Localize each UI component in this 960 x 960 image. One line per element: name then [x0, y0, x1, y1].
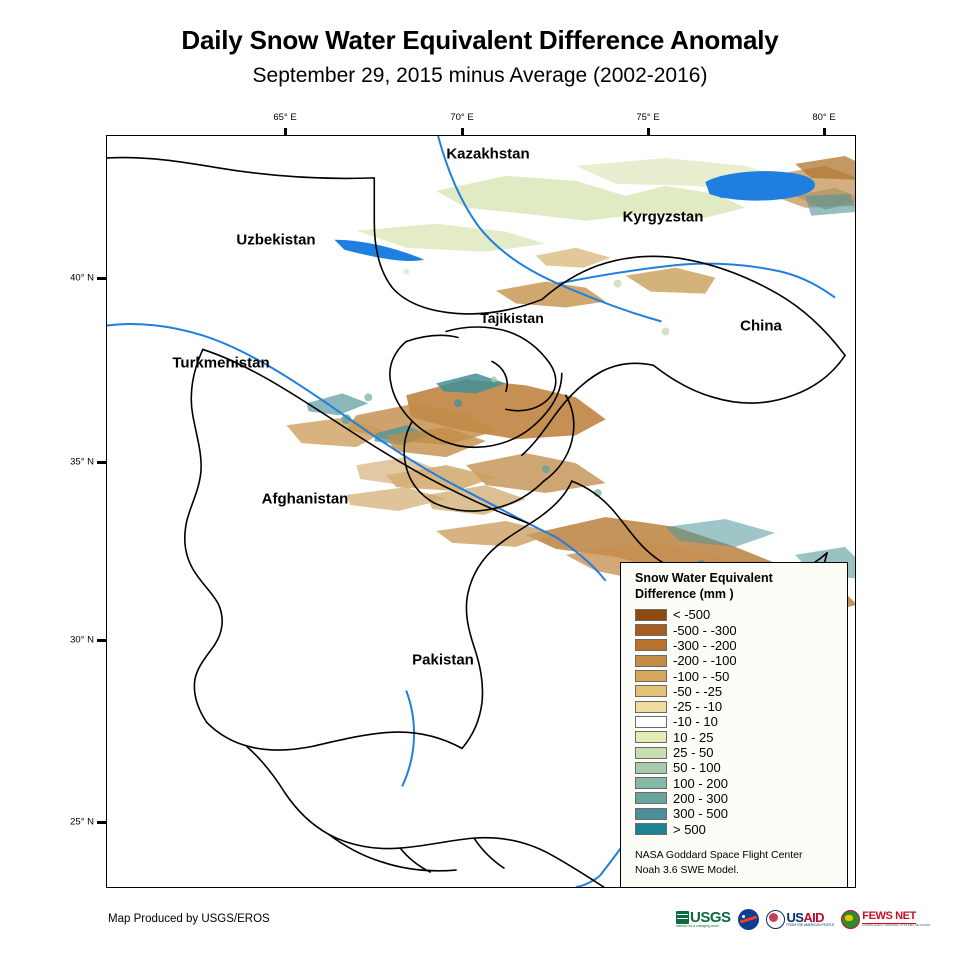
fews-tagline: FAMINE EARLY WARNING SYSTEMS NETWORK: [862, 924, 930, 927]
legend-row: 200 - 300: [635, 791, 847, 806]
legend-row: 100 - 200: [635, 776, 847, 791]
swe-anomaly-raster: [287, 156, 855, 623]
legend-class-label: -25 - -10: [673, 700, 722, 713]
latitude-tick-label: 25° N: [50, 817, 94, 828]
longitude-tick-label: 75° E: [636, 112, 659, 123]
legend-color-swatch: [635, 716, 667, 728]
legend-class-label: -50 - -25: [673, 685, 722, 698]
fews-net-logo: FEWS NET FAMINE EARLY WARNING SYSTEMS NE…: [841, 908, 930, 930]
legend-row: -10 - 10: [635, 714, 847, 729]
legend-color-swatch: [635, 823, 667, 835]
legend-class-label: 25 - 50: [673, 746, 713, 759]
usaid-tagline: FROM THE AMERICAN PEOPLE: [787, 924, 835, 927]
map-canvas[interactable]: KazakhstanUzbekistanKyrgyzstanTurkmenist…: [106, 135, 856, 888]
map-credit: Map Produced by USGS/EROS: [108, 913, 270, 925]
longitude-tick-label: 65° E: [273, 112, 296, 123]
legend-row: > 500: [635, 821, 847, 836]
legend-color-swatch: [635, 655, 667, 667]
legend-row: 10 - 25: [635, 730, 847, 745]
legend-title-line2: Difference (mm ): [635, 587, 847, 603]
legend-color-swatch: [635, 670, 667, 682]
page-subtitle: September 29, 2015 minus Average (2002-2…: [0, 64, 960, 87]
usaid-logo: USAID FROM THE AMERICAN PEOPLE: [766, 908, 835, 930]
legend-row: -100 - -50: [635, 668, 847, 683]
latitude-tick-mark: [97, 821, 106, 824]
longitude-tick-label: 80° E: [812, 112, 835, 123]
legend-class-label: 300 - 500: [673, 807, 728, 820]
legend-row: -500 - -300: [635, 623, 847, 638]
legend-color-swatch: [635, 777, 667, 789]
legend-class-label: 100 - 200: [673, 777, 728, 790]
legend-row: -200 - -100: [635, 653, 847, 668]
legend-class-label: -500 - -300: [673, 624, 737, 637]
nasa-logo: [738, 908, 759, 930]
legend-row: 50 - 100: [635, 760, 847, 775]
legend-class-label: 10 - 25: [673, 731, 713, 744]
usgs-logo: USGS science for a changing world: [676, 908, 731, 930]
legend-class-label: -200 - -100: [673, 654, 737, 667]
latitude-tick-mark: [97, 639, 106, 642]
legend-class-label: < -500: [673, 608, 710, 621]
legend-class-list: < -500-500 - -300-300 - -200-200 - -100-…: [635, 607, 847, 836]
legend-color-swatch: [635, 762, 667, 774]
legend-color-swatch: [635, 624, 667, 636]
legend-class-label: -300 - -200: [673, 639, 737, 652]
legend-color-swatch: [635, 609, 667, 621]
legend-color-swatch: [635, 639, 667, 651]
map-legend[interactable]: Snow Water Equivalent Difference (mm ) <…: [620, 562, 848, 888]
legend-color-swatch: [635, 701, 667, 713]
usgs-wordmark: USGS: [690, 910, 731, 925]
title-block: Daily Snow Water Equivalent Difference A…: [0, 0, 960, 87]
usgs-wave-icon: [676, 911, 689, 924]
legend-class-label: -10 - 10: [673, 715, 718, 728]
usaid-seal-icon: [766, 910, 785, 929]
latitude-tick-mark: [97, 461, 106, 464]
legend-class-label: -100 - -50: [673, 670, 729, 683]
legend-color-swatch: [635, 731, 667, 743]
legend-color-swatch: [635, 808, 667, 820]
usgs-tagline: science for a changing world: [676, 925, 719, 928]
legend-color-swatch: [635, 792, 667, 804]
latitude-tick-label: 30° N: [50, 635, 94, 646]
legend-title-line1: Snow Water Equivalent: [635, 571, 847, 587]
legend-row: 300 - 500: [635, 806, 847, 821]
legend-class-label: 200 - 300: [673, 792, 728, 805]
legend-row: < -500: [635, 607, 847, 622]
latitude-tick-mark: [97, 277, 106, 280]
nasa-meatball-icon: [738, 909, 759, 930]
page-title: Daily Snow Water Equivalent Difference A…: [0, 26, 960, 55]
legend-color-swatch: [635, 685, 667, 697]
legend-row: 25 - 50: [635, 745, 847, 760]
legend-row: -50 - -25: [635, 684, 847, 699]
legend-class-label: 50 - 100: [673, 761, 721, 774]
agency-logo-strip: USGS science for a changing world USAID …: [676, 908, 930, 930]
legend-color-swatch: [635, 747, 667, 759]
fews-globe-icon: [841, 910, 860, 929]
latitude-tick-label: 40° N: [50, 273, 94, 284]
legend-title: Snow Water Equivalent Difference (mm ): [621, 563, 847, 602]
legend-row: -300 - -200: [635, 638, 847, 653]
legend-source-note: NASA Goddard Space Flight Center Noah 3.…: [635, 848, 803, 878]
legend-source-line2: Noah 3.6 SWE Model.: [635, 863, 803, 878]
latitude-tick-label: 35° N: [50, 457, 94, 468]
legend-class-label: > 500: [673, 823, 706, 836]
legend-row: -25 - -10: [635, 699, 847, 714]
legend-source-line1: NASA Goddard Space Flight Center: [635, 848, 803, 863]
longitude-tick-label: 70° E: [450, 112, 473, 123]
